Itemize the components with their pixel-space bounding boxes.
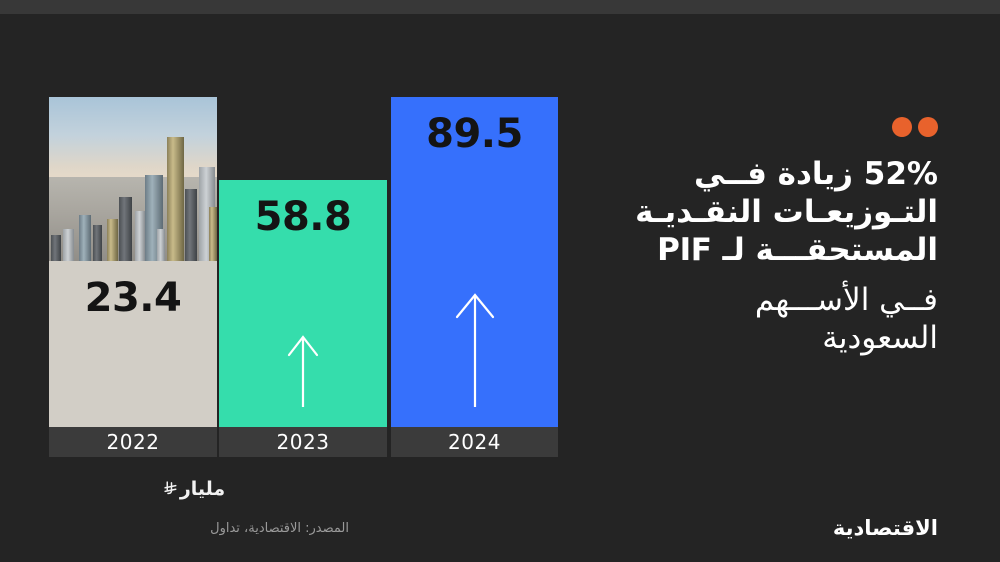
riyadh-skyline-photo <box>49 97 217 263</box>
headline-line-1: 52% زيادة فــي <box>578 155 938 193</box>
headline-line-5: السعودية <box>578 319 938 357</box>
year-label-band-2022: 2022 <box>49 427 217 457</box>
bar-area-2023: 58.8 <box>219 97 387 427</box>
year-label-band-2024: 2024 <box>391 427 558 457</box>
photo-tower <box>119 197 132 263</box>
decorative-dots <box>892 117 938 137</box>
chart-unit-label: مليار <box>49 476 333 500</box>
source-note: المصدر: الاقتصادية، تداول <box>49 521 349 536</box>
dot-icon-1 <box>892 117 912 137</box>
photo-tower <box>79 215 91 263</box>
bar-chart: 23.4 2022 58.8 <box>49 97 558 457</box>
year-label-2024: 2024 <box>448 430 501 454</box>
photo-tower <box>167 137 184 263</box>
year-label-2023: 2023 <box>277 430 330 454</box>
photo-tower <box>93 225 102 263</box>
brand-logo: الاقتصادية <box>833 516 938 540</box>
unit-text: مليار <box>180 478 225 500</box>
year-label-band-2023: 2023 <box>219 427 387 457</box>
photo-tower <box>209 207 217 263</box>
headline-line-3: المستحقـــة لـ PIF <box>578 231 938 269</box>
saudi-riyal-icon <box>163 476 180 500</box>
chart-column-2022: 23.4 2022 <box>49 97 217 457</box>
bar-area-2022: 23.4 <box>49 97 217 427</box>
photo-tower <box>107 219 118 263</box>
dot-icon-2 <box>918 117 938 137</box>
top-bar <box>0 0 1000 14</box>
bar-value-2022: 23.4 <box>49 275 217 321</box>
bar-2024: 89.5 <box>391 97 558 427</box>
infographic-canvas: 23.4 2022 58.8 <box>0 0 1000 562</box>
bar-2022: 23.4 <box>49 261 217 427</box>
headline-line-4: فــي الأســـهم <box>578 281 938 319</box>
photo-tower <box>157 229 165 263</box>
photo-tower <box>135 211 145 263</box>
bar-2023: 58.8 <box>219 180 387 427</box>
chart-column-2023: 58.8 2023 <box>219 97 387 457</box>
photo-tower <box>63 229 74 263</box>
growth-arrow-icon-2024 <box>449 285 501 409</box>
growth-arrow-icon-2023 <box>283 329 323 409</box>
bar-value-2023: 58.8 <box>219 194 387 240</box>
year-label-2022: 2022 <box>107 430 160 454</box>
headline-block: 52% زيادة فــي التـوزيعـات النقـديـة الم… <box>578 155 938 357</box>
bar-value-2024: 89.5 <box>391 111 558 157</box>
chart-column-2024: 89.5 2024 <box>391 97 558 457</box>
bar-area-2024: 89.5 <box>391 97 558 427</box>
photo-tower <box>185 189 197 263</box>
photo-tower <box>51 235 61 263</box>
headline-line-2: التـوزيعـات النقـديـة <box>578 193 938 231</box>
